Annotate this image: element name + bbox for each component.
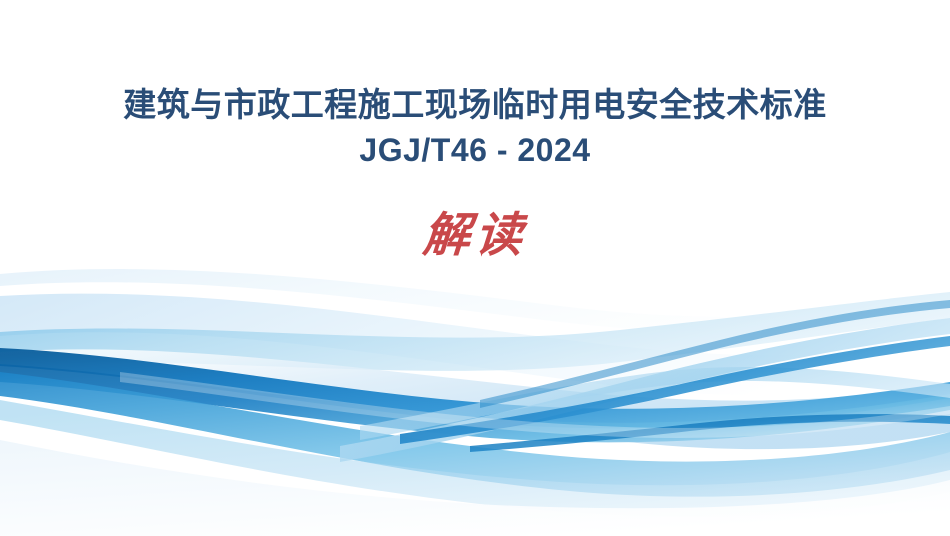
wave-big-sweep — [0, 372, 950, 497]
abstract-blue-wave-ribbons — [0, 0, 950, 536]
wave-light-mid-right — [0, 292, 950, 371]
subtitle-text: 解读 — [421, 206, 529, 266]
wave-ribbon-right-deep — [400, 336, 950, 444]
page-title: 建筑与市政工程施工现场临时用电安全技术标准 JGJ/T46 - 2024 — [0, 84, 950, 170]
wave-strong-blue-left — [0, 364, 950, 442]
title-line-standard-code: JGJ/T46 - 2024 — [0, 130, 950, 170]
wave-haze-top — [0, 269, 950, 332]
wave-bottom-arc — [0, 400, 950, 517]
wave-bottom-fade — [0, 440, 950, 536]
title-line-primary: 建筑与市政工程施工现场临时用电安全技术标准 — [0, 84, 950, 126]
subtitle: 解读 — [0, 206, 950, 266]
wave-pale-upper-left — [0, 294, 950, 396]
wave-thin-accent-mid-right — [480, 300, 950, 408]
wave-deep-navy-left — [0, 348, 950, 428]
wave-ribbon-right-pale-1 — [340, 318, 950, 462]
wave-thin-accent-bottom-right — [470, 414, 950, 452]
wave-pale-center — [0, 349, 950, 449]
presentation-slide: 建筑与市政工程施工现场临时用电安全技术标准 JGJ/T46 - 2024 解读 — [0, 0, 950, 536]
wave-ribbon-right-pale-2 — [360, 367, 950, 440]
wave-highlight-streak — [120, 372, 950, 438]
